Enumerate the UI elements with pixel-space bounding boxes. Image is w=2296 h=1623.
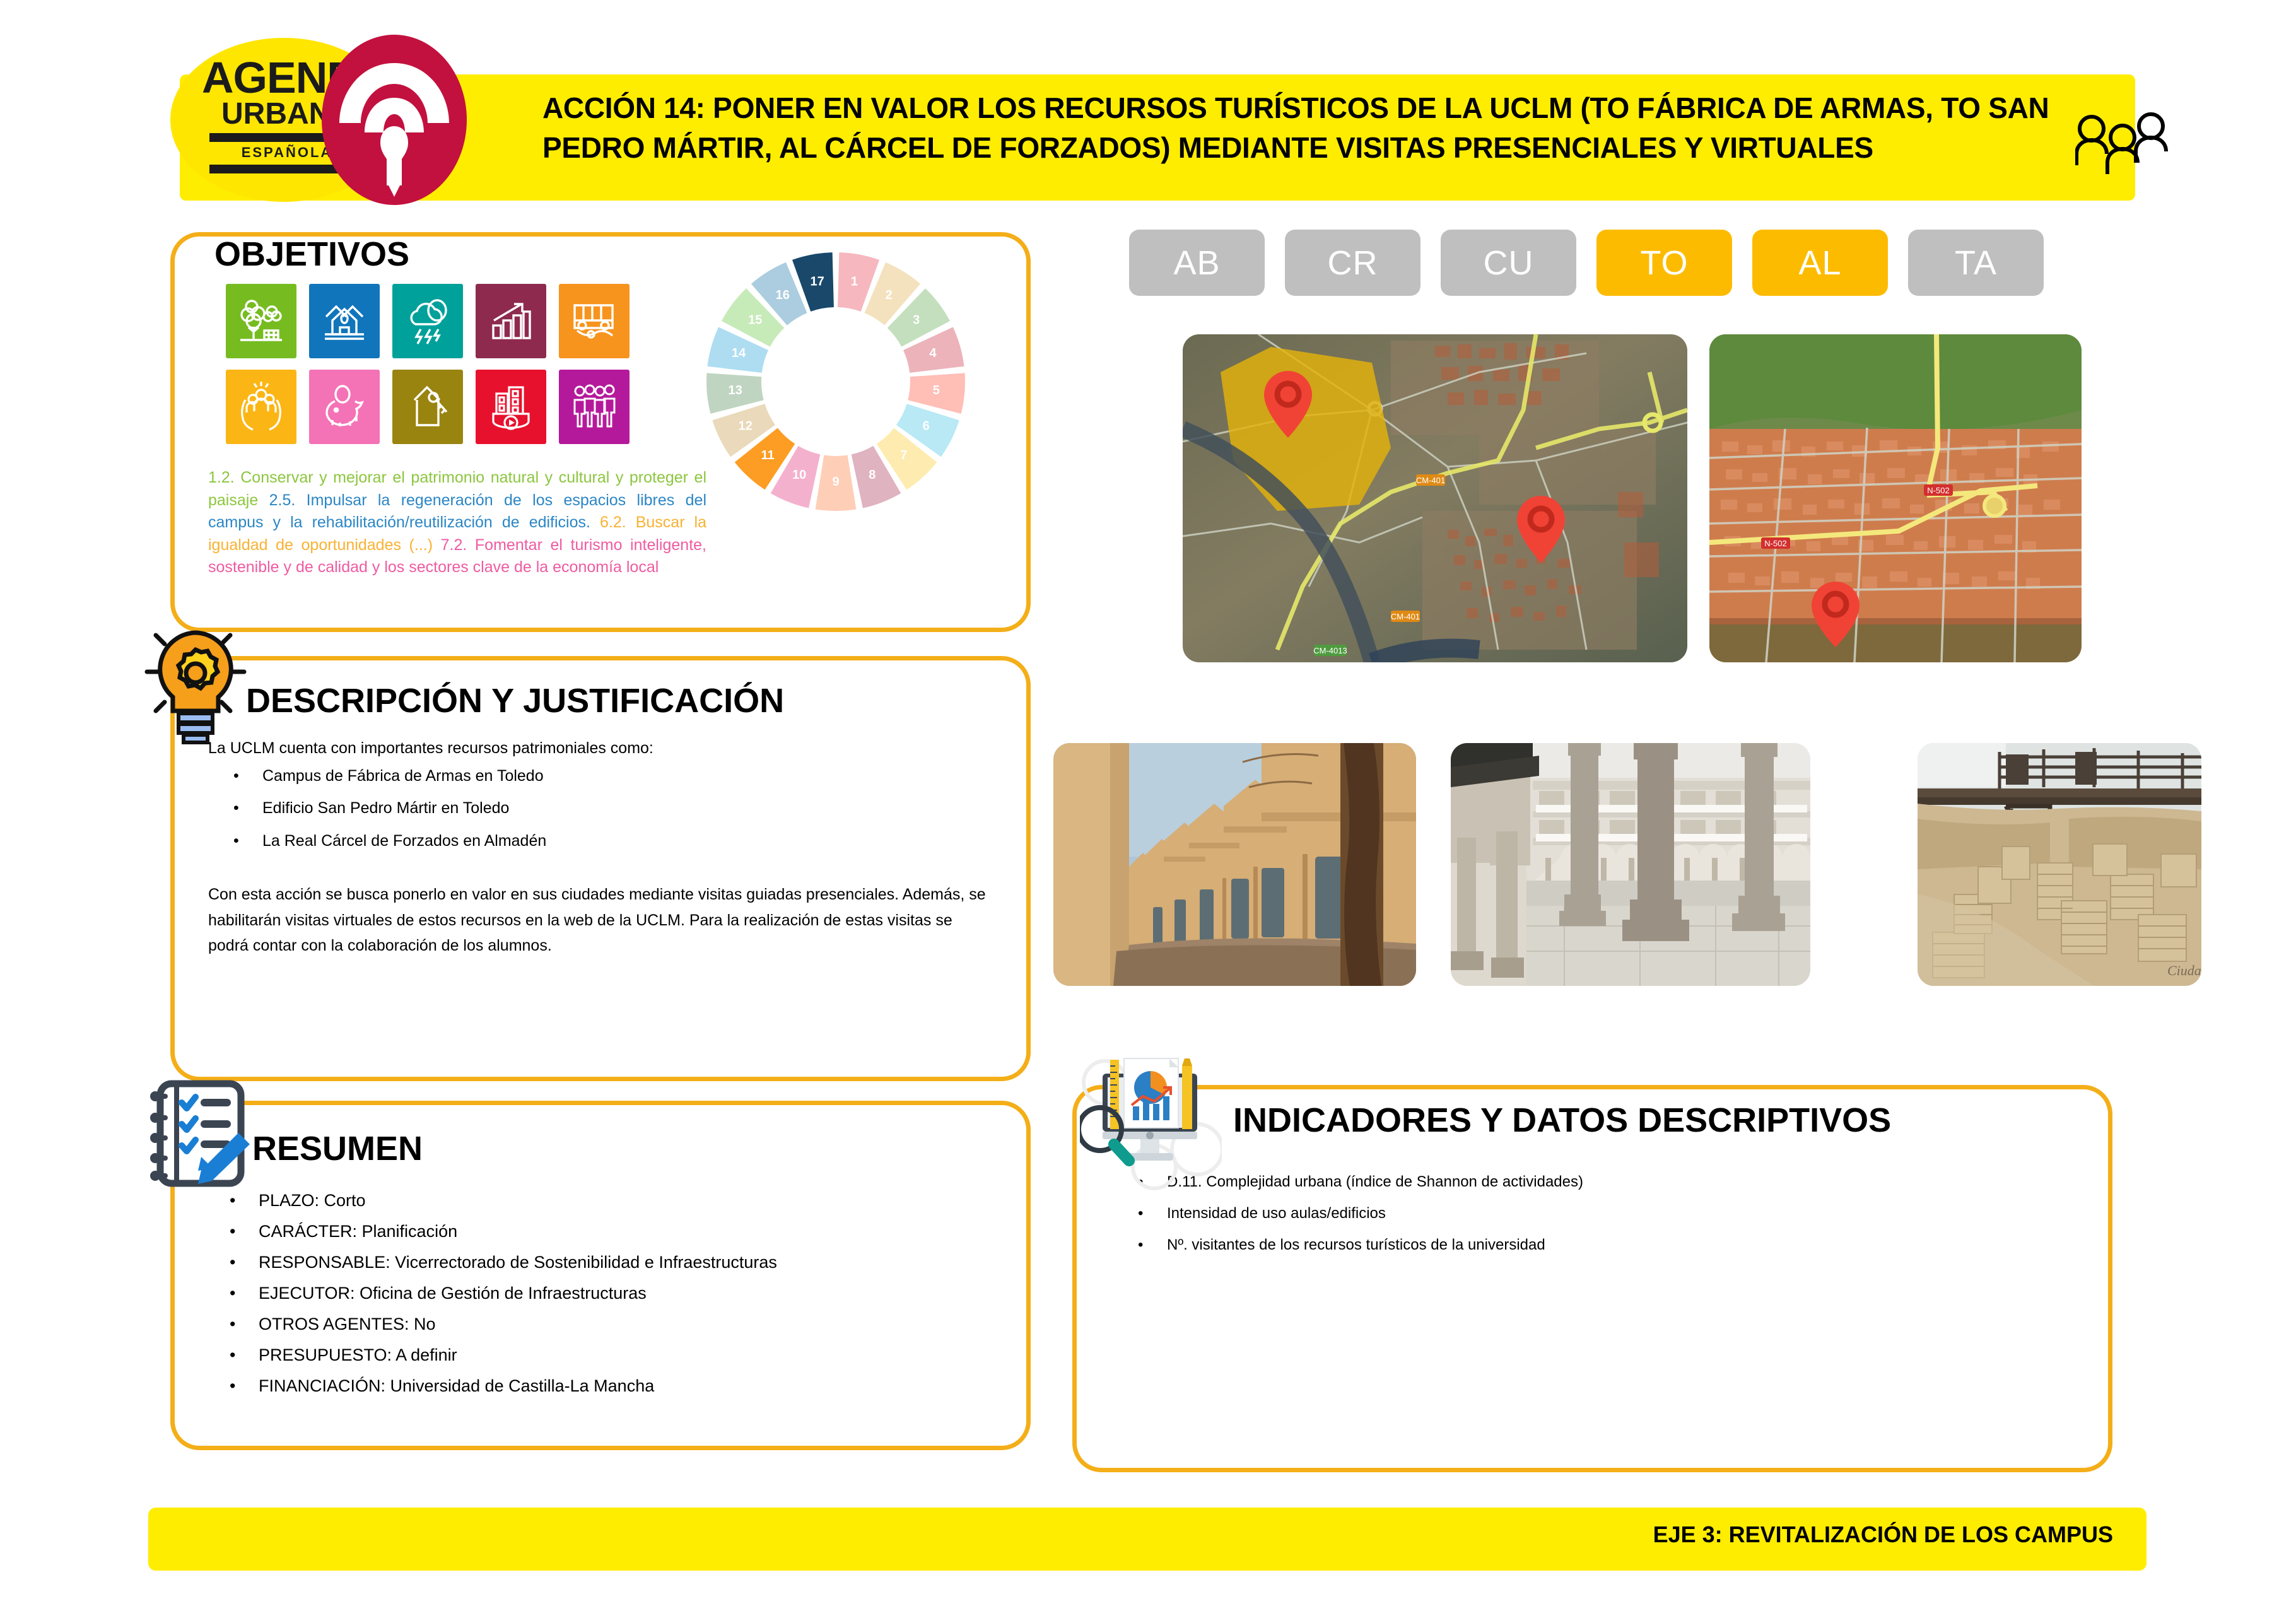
- house-buildings-icon: [309, 284, 380, 358]
- objetivos-icon-grid: [226, 284, 667, 455]
- campus-tab-cr[interactable]: CR: [1285, 230, 1420, 296]
- map-toledo: CM-401 CM-401 CM-4013: [1183, 334, 1687, 662]
- list-item: Nº. visitantes de los recursos turístico…: [1167, 1238, 2075, 1253]
- sdg-segment-number-14: 14: [732, 346, 746, 360]
- objetivos-icon-row-1: [226, 284, 667, 358]
- svg-text:CM-401: CM-401: [1416, 476, 1445, 485]
- list-item: PLAZO: Corto: [259, 1192, 997, 1209]
- sdg-segment-number-15: 15: [748, 313, 762, 327]
- list-item: FINANCIACIÓN: Universidad de Castilla-La…: [259, 1378, 997, 1395]
- list-item: EJECUTOR: Oficina de Gestión de Infraest…: [259, 1285, 997, 1302]
- campus-tab-ta[interactable]: TA: [1908, 230, 2044, 296]
- sdg-segment-number-12: 12: [739, 419, 753, 433]
- list-item: D.11. Complejidad urbana (índice de Shan…: [1167, 1175, 2075, 1190]
- indicadores-body: D.11. Complejidad urbana (índice de Shan…: [1129, 1175, 2075, 1269]
- descripcion-body: La UCLM cuenta con importantes recursos …: [208, 737, 997, 959]
- people-group-icon: [2075, 107, 2170, 177]
- sdg-segment-number-9: 9: [832, 475, 839, 489]
- house-key-icon: [392, 370, 463, 444]
- sdg-segment-number-3: 3: [913, 313, 920, 327]
- indicadores-panel: [1072, 1085, 2112, 1472]
- sdg-segment-number-10: 10: [792, 468, 806, 482]
- list-item: Edificio San Pedro Mártir en Toledo: [262, 797, 997, 821]
- indicadores-heading: INDICADORES Y DATOS DESCRIPTIVOS: [1233, 1101, 1891, 1140]
- rocket-signal-icon: [322, 35, 467, 205]
- list-item: PRESUPUESTO: A definir: [259, 1347, 997, 1364]
- growth-chart-icon: [476, 284, 546, 358]
- footer-text: EJE 3: REVITALIZACIÓN DE LOS CAMPUS: [1262, 1521, 2143, 1548]
- sdg-segment-number-8: 8: [869, 468, 876, 482]
- sdg-segment-number-7: 7: [900, 448, 907, 462]
- sdg-segment-number-6: 6: [923, 419, 930, 433]
- dashboard-analytics-icon: [1080, 1055, 1222, 1190]
- descripcion-intro: La UCLM cuenta con importantes recursos …: [208, 737, 997, 761]
- objetivos-icon-row-2: [226, 370, 667, 444]
- campus-tab-to[interactable]: TO: [1596, 230, 1732, 296]
- sdg-segment-number-11: 11: [761, 448, 775, 462]
- photo-san-pedro-martir: [1451, 743, 1810, 986]
- list-item: RESPONSABLE: Vicerrectorado de Sostenibi…: [259, 1254, 997, 1271]
- sdg-segment-number-13: 13: [729, 384, 742, 397]
- sdg-segment-number-17: 17: [810, 275, 824, 289]
- photo-carcel-forzados: Ciudad: [1918, 743, 2201, 986]
- svg-text:Ciudad: Ciudad: [2167, 963, 2201, 978]
- sdg-segment-number-16: 16: [776, 288, 790, 302]
- buildings-play-icon: [476, 370, 546, 444]
- svg-text:CM-401: CM-401: [1391, 612, 1420, 621]
- notebook-checklist-icon: [146, 1080, 270, 1206]
- indicadores-list: D.11. Complejidad urbana (índice de Shan…: [1129, 1175, 2075, 1253]
- list-item: OTROS AGENTES: No: [259, 1316, 997, 1333]
- svg-text:CM-4013: CM-4013: [1313, 646, 1347, 655]
- list-item: CARÁCTER: Planificación: [259, 1223, 997, 1240]
- objetivos-heading: OBJETIVOS: [214, 235, 409, 274]
- tree-park-icon: [226, 284, 296, 358]
- descripcion-bullet-list: Campus de Fábrica de Armas en Toledo Edi…: [208, 765, 997, 853]
- svg-text:N-502: N-502: [1927, 486, 1949, 495]
- list-item: La Real Cárcel de Forzados en Almadén: [262, 829, 997, 853]
- campus-tab-al[interactable]: AL: [1752, 230, 1888, 296]
- campus-tab-ab[interactable]: AB: [1129, 230, 1265, 296]
- campus-tab-bar[interactable]: AB CR CU TO AL TA: [1129, 230, 2044, 296]
- resumen-list: PLAZO: Corto CARÁCTER: Planificación RES…: [221, 1192, 997, 1395]
- list-item: Campus de Fábrica de Armas en Toledo: [262, 765, 997, 788]
- sdg-segment-number-4: 4: [929, 346, 937, 360]
- objetivos-text: 1.2. Conservar y mejorar el patrimonio n…: [208, 467, 706, 579]
- people-equality-icon: [559, 370, 630, 444]
- lightbulb-gear-icon: [142, 621, 249, 747]
- bus-mobility-icon: [559, 284, 630, 358]
- page-title: ACCIÓN 14: PONER EN VALOR LOS RECURSOS T…: [542, 88, 2056, 168]
- resumen-heading: RESUMEN: [252, 1129, 423, 1168]
- descripcion-paragraph: Con esta acción se busca ponerlo en valo…: [208, 882, 997, 959]
- map-almaden: N-502 N-502: [1709, 334, 2082, 662]
- sdg-wheel: 1234567891011121314151617: [694, 240, 978, 524]
- svg-text:N-502: N-502: [1764, 539, 1786, 548]
- sdg-segment-number-5: 5: [933, 384, 940, 397]
- photo-fabrica-de-armas: [1053, 743, 1416, 986]
- piggy-bank-icon: [309, 370, 380, 444]
- resumen-body: PLAZO: Corto CARÁCTER: Planificación RES…: [221, 1192, 997, 1409]
- sdg-segment-number-1: 1: [851, 275, 858, 289]
- list-item: Intensidad de uso aulas/edificios: [1167, 1206, 2075, 1221]
- cloud-storm-icon: [392, 284, 463, 358]
- descripcion-heading: DESCRIPCIÓN Y JUSTIFICACIÓN: [246, 681, 784, 720]
- campus-tab-cu[interactable]: CU: [1441, 230, 1576, 296]
- hands-people-icon: [226, 370, 296, 444]
- sdg-segment-number-2: 2: [886, 288, 893, 302]
